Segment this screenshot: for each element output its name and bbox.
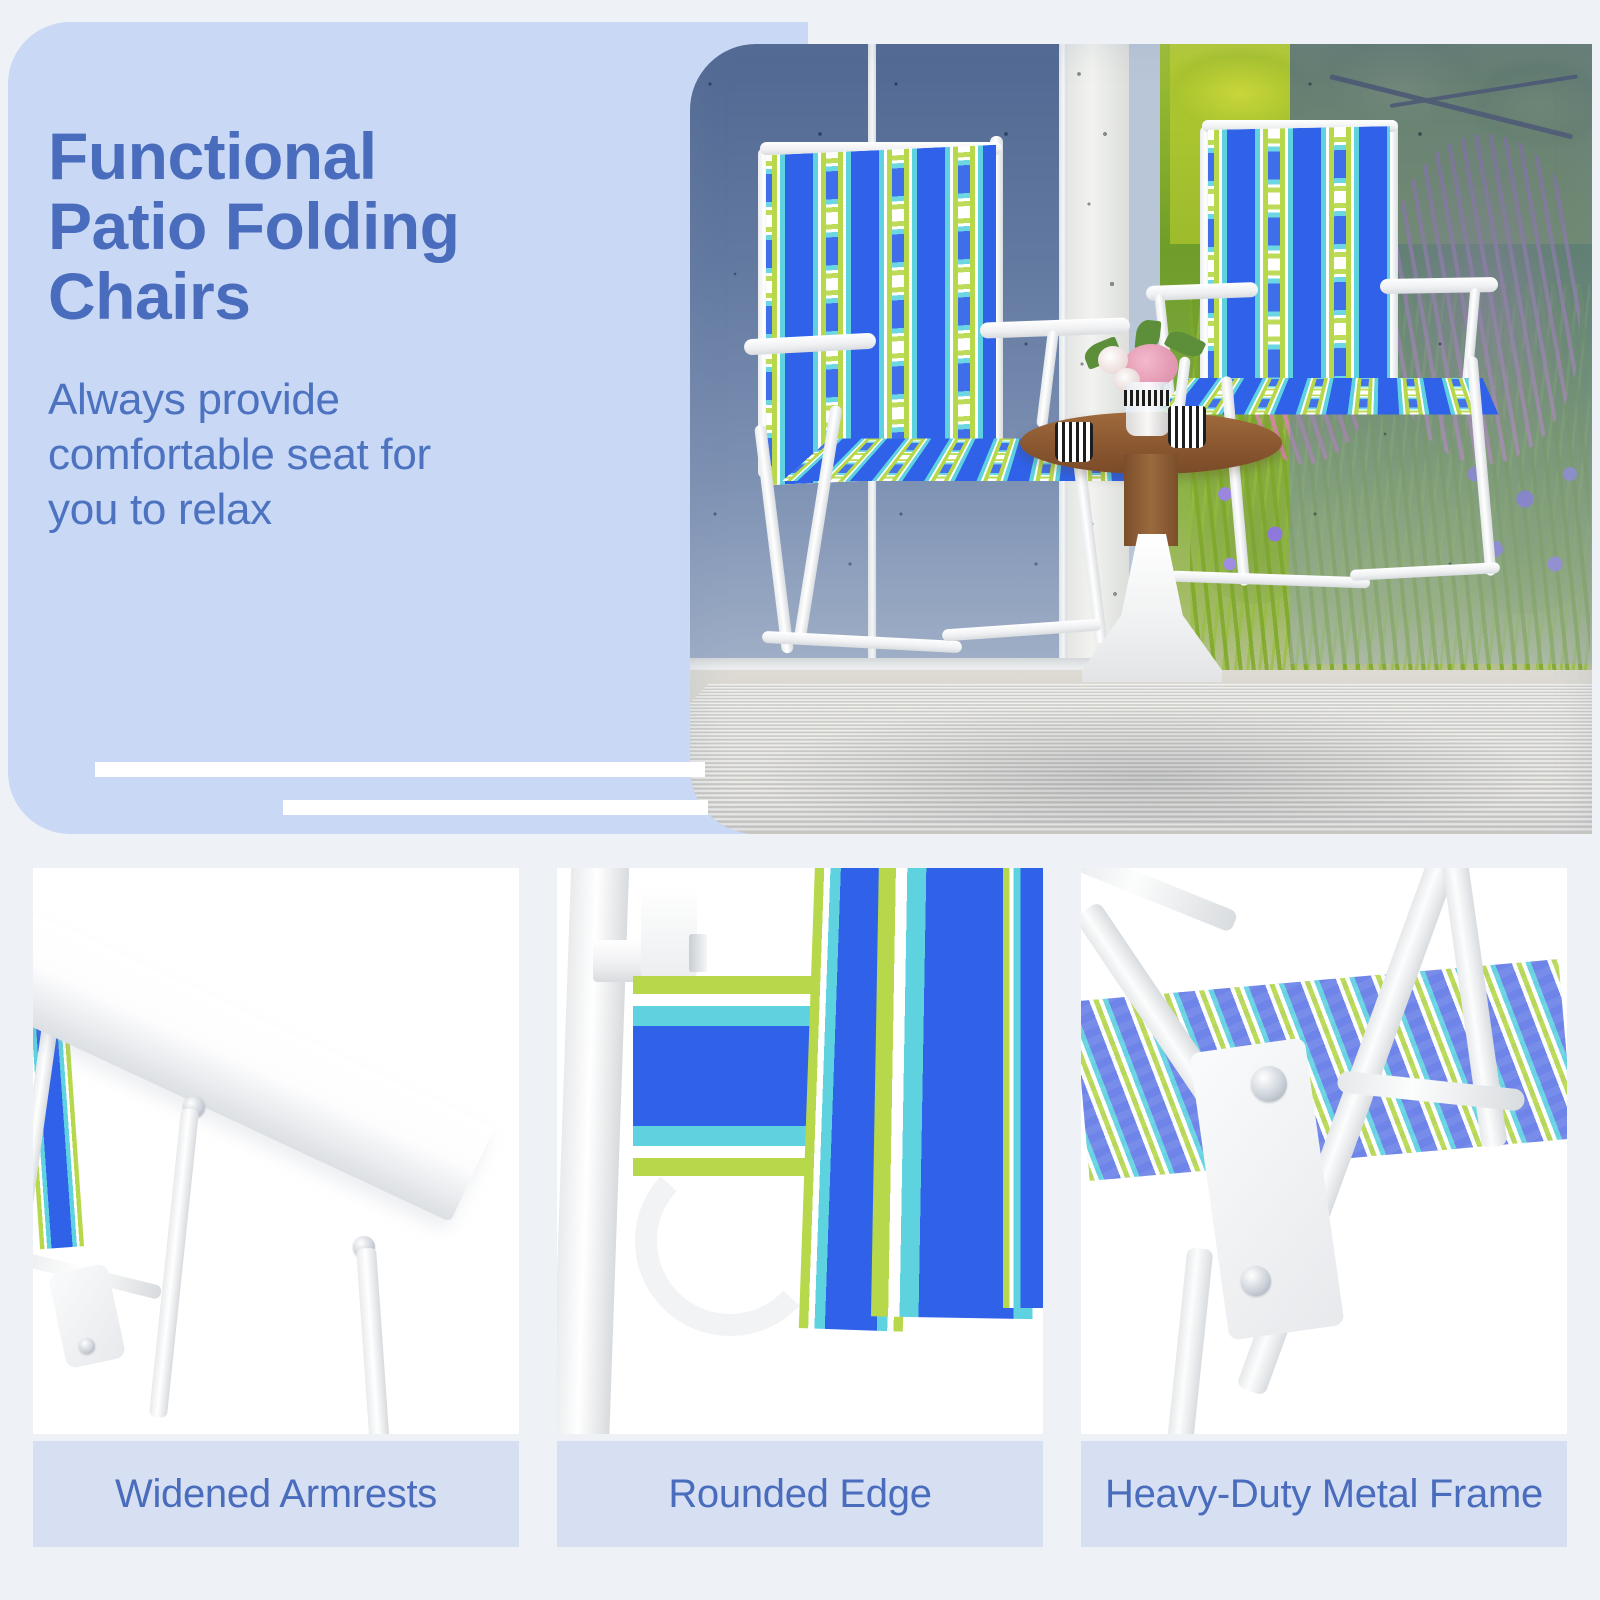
webbing-weave-pattern	[1208, 126, 1390, 398]
decorative-bar-2	[283, 800, 708, 815]
subtitle-line-2: comfortable seat for	[48, 430, 431, 479]
feature-caption-rounded-edge: Rounded Edge	[557, 1441, 1043, 1547]
hinge-rivet	[79, 1338, 95, 1354]
caption-text: Widened Armrests	[115, 1472, 437, 1517]
feature-caption-heavy-duty-frame: Heavy-Duty Metal Frame	[1081, 1441, 1567, 1547]
frame-lower-leg	[1167, 1247, 1214, 1434]
strap-clip	[689, 934, 707, 972]
feature-card-heavy-duty-frame: Heavy-Duty Metal Frame	[1081, 868, 1567, 1547]
page-title: Functional Patio Folding Chairs	[48, 122, 668, 332]
feature-caption-widened-armrests: Widened Armrests	[33, 1441, 519, 1547]
striped-mug-right	[1168, 406, 1206, 448]
feature-photo-widened-armrests	[33, 868, 519, 1434]
chair-back-webbing	[1208, 126, 1390, 398]
webbing-strap-vertical	[1003, 868, 1043, 1308]
striped-mug-left	[1055, 422, 1093, 462]
hero-subtitle: Always provide comfortable seat for you …	[48, 372, 668, 537]
armrest-support-leg	[149, 1108, 199, 1418]
hero-copy-block: Functional Patio Folding Chairs Always p…	[48, 122, 668, 537]
table-stem	[1124, 454, 1178, 546]
hinge-pivot-rivet	[1251, 1066, 1287, 1102]
vase-ribbon	[1124, 390, 1170, 406]
caption-text: Rounded Edge	[668, 1472, 931, 1517]
caption-text: Heavy-Duty Metal Frame	[1105, 1472, 1543, 1517]
webbing-weave-pattern	[766, 145, 996, 485]
hero-section: Functional Patio Folding Chairs Always p…	[8, 22, 1592, 834]
decorative-bar-1	[95, 762, 705, 777]
subtitle-line-1: Always provide	[48, 375, 340, 424]
title-line-1: Functional	[48, 119, 377, 193]
feature-photo-rounded-edge	[557, 868, 1043, 1434]
feature-card-widened-armrests: Widened Armrests	[33, 868, 519, 1547]
chair-foot-rail	[1350, 562, 1500, 581]
hero-photo	[690, 44, 1592, 834]
feature-cards-row: Widened Armrests Rounded Edge	[0, 868, 1600, 1558]
chair-front-leg	[356, 1248, 390, 1434]
title-line-2: Patio Folding	[48, 189, 459, 263]
widened-armrest-bar	[33, 908, 494, 1222]
title-line-3: Chairs	[48, 259, 250, 333]
feature-photo-heavy-duty-frame	[1081, 868, 1567, 1434]
hinge-lower-rivet	[1241, 1266, 1271, 1296]
subtitle-line-3: you to relax	[48, 485, 272, 534]
armrest-right	[1380, 277, 1498, 294]
table-pedestal-base	[1082, 534, 1222, 682]
webbing-strap-horizontal	[633, 976, 833, 1176]
chair-back-webbing	[766, 145, 996, 485]
feature-card-rounded-edge: Rounded Edge	[557, 868, 1043, 1547]
